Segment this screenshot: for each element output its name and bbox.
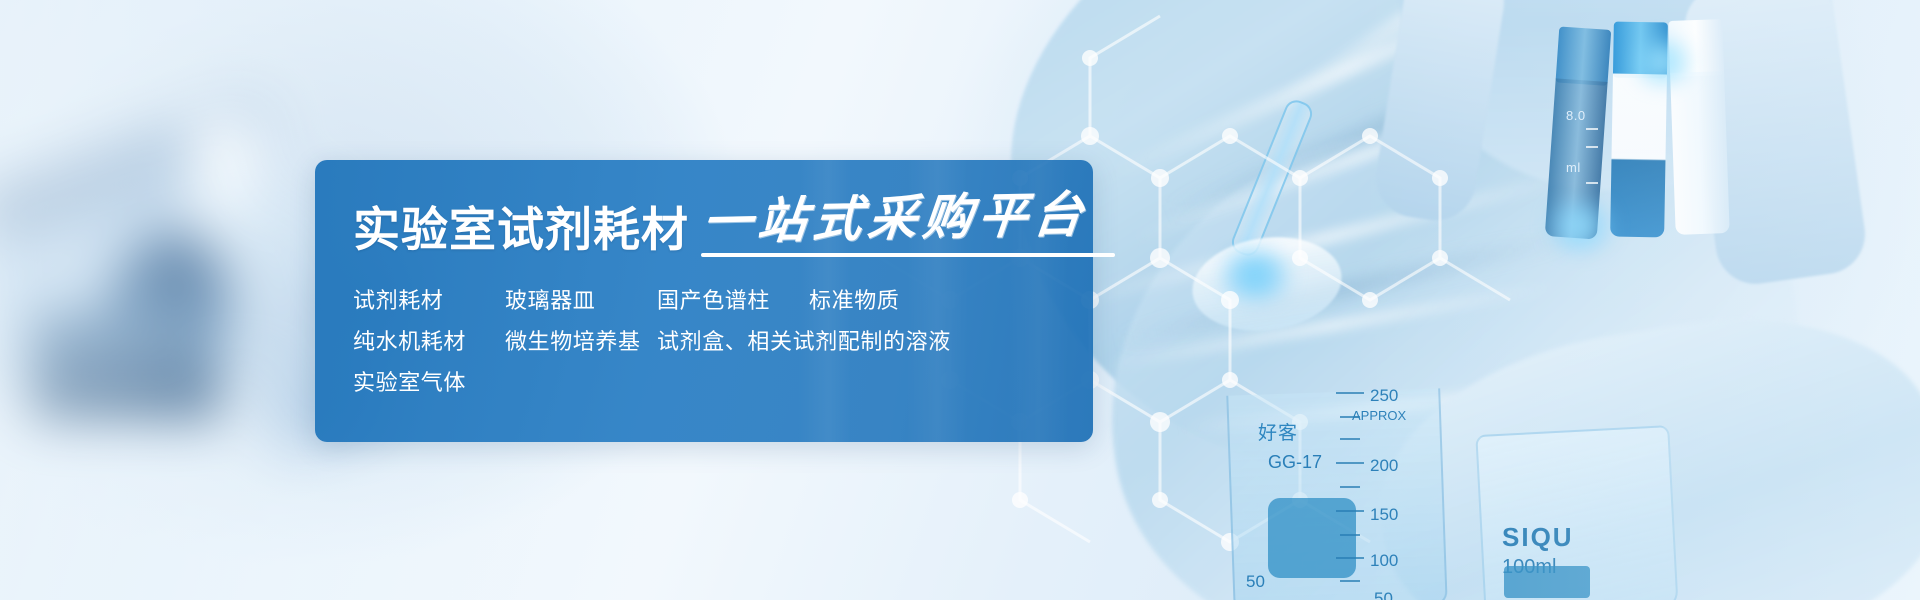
category-item-domestic-chromatography-column[interactable]: 国产色谱柱: [657, 283, 809, 315]
category-item-water-purifier-consumables[interactable]: 纯水机耗材: [353, 324, 505, 356]
banner-title: 实验室试剂耗材 一站式采购平台: [353, 194, 1088, 253]
title-main-text: 实验室试剂耗材: [353, 206, 689, 253]
category-item-glassware[interactable]: 玻璃器皿: [505, 283, 657, 315]
category-list: 试剂耗材 玻璃器皿 国产色谱柱 标准物质 纯水机耗材 微生物培养基 试剂盒、相关…: [353, 278, 1053, 401]
title-brush-wrapper: 一站式采购平台: [703, 194, 1088, 253]
category-row: 试剂耗材 玻璃器皿 国产色谱柱 标准物质: [353, 278, 1053, 319]
category-item-laboratory-gases[interactable]: 实验室气体: [353, 365, 505, 397]
category-item-reference-materials[interactable]: 标准物质: [809, 283, 969, 315]
category-row: 纯水机耗材 微生物培养基 试剂盒、相关试剂配制的溶液: [353, 319, 1053, 360]
title-underline: [701, 253, 1115, 257]
title-brush-text: 一站式采购平台: [700, 190, 1091, 247]
promo-panel: 实验室试剂耗材 一站式采购平台 试剂耗材 玻璃器皿 国产色谱柱 标准物质 纯水机…: [315, 160, 1093, 442]
category-item-reagent-kits-solutions[interactable]: 试剂盒、相关试剂配制的溶液: [657, 324, 951, 356]
lab-reagent-banner: 8.0 ml: [0, 0, 1920, 600]
category-item-microbial-culture-media[interactable]: 微生物培养基: [505, 324, 657, 356]
category-item-reagent-consumables[interactable]: 试剂耗材: [353, 283, 505, 315]
category-row: 实验室气体: [353, 360, 1053, 401]
